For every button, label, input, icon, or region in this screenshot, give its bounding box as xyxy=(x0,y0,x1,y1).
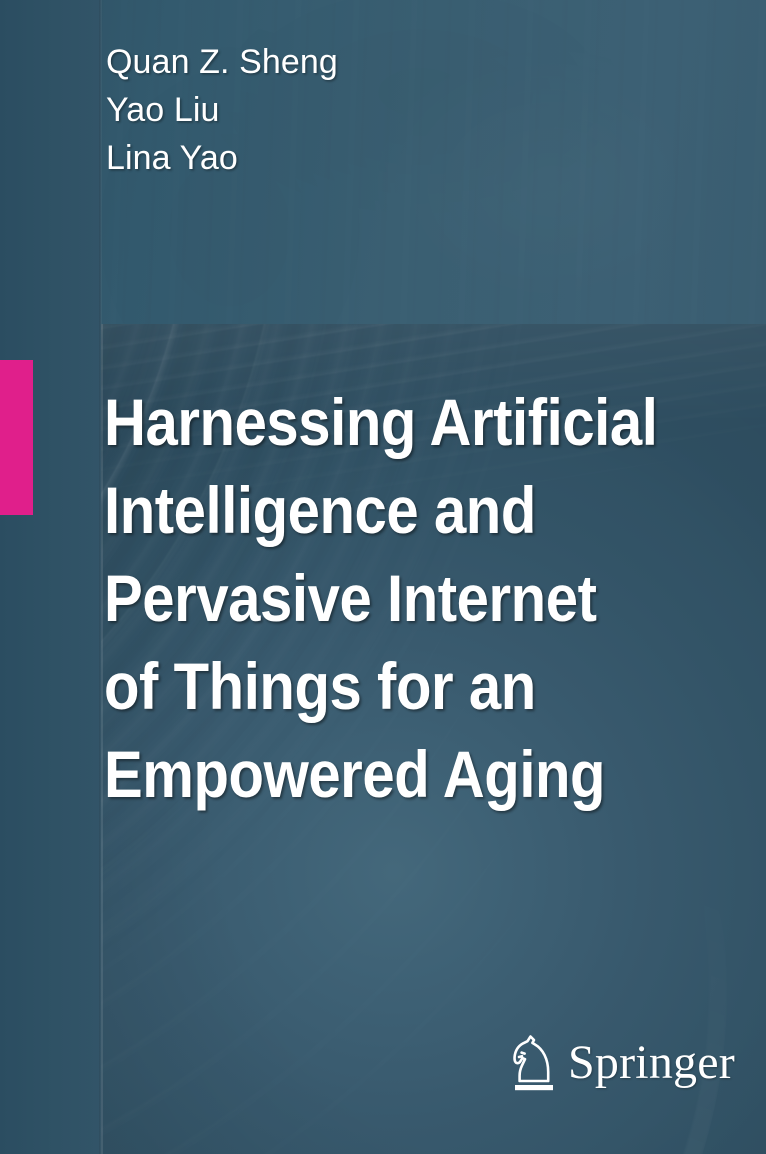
publisher-name: Springer xyxy=(568,1039,735,1087)
book-title-line: Intelligence and xyxy=(104,466,650,554)
book-title-line: Pervasive Internet xyxy=(104,554,650,642)
book-title: Harnessing Artificial Intelligence and P… xyxy=(104,378,650,818)
spine-side-strip xyxy=(0,0,101,1154)
author-name: Yao Liu xyxy=(106,86,666,134)
book-cover: Quan Z. Sheng Yao Liu Lina Yao Harnessin… xyxy=(0,0,766,1154)
author-name: Lina Yao xyxy=(106,134,666,182)
book-title-line: Harnessing Artificial xyxy=(104,378,650,466)
author-list: Quan Z. Sheng Yao Liu Lina Yao xyxy=(106,38,666,182)
artwork-left-edge-line xyxy=(101,324,103,1154)
book-title-line: of Things for an xyxy=(104,642,650,730)
book-title-line: Empowered Aging xyxy=(104,730,650,818)
accent-marker-bar xyxy=(0,360,33,515)
publisher-logo: Springer xyxy=(510,1032,735,1094)
springer-knight-icon xyxy=(510,1032,558,1094)
author-name: Quan Z. Sheng xyxy=(106,38,666,86)
